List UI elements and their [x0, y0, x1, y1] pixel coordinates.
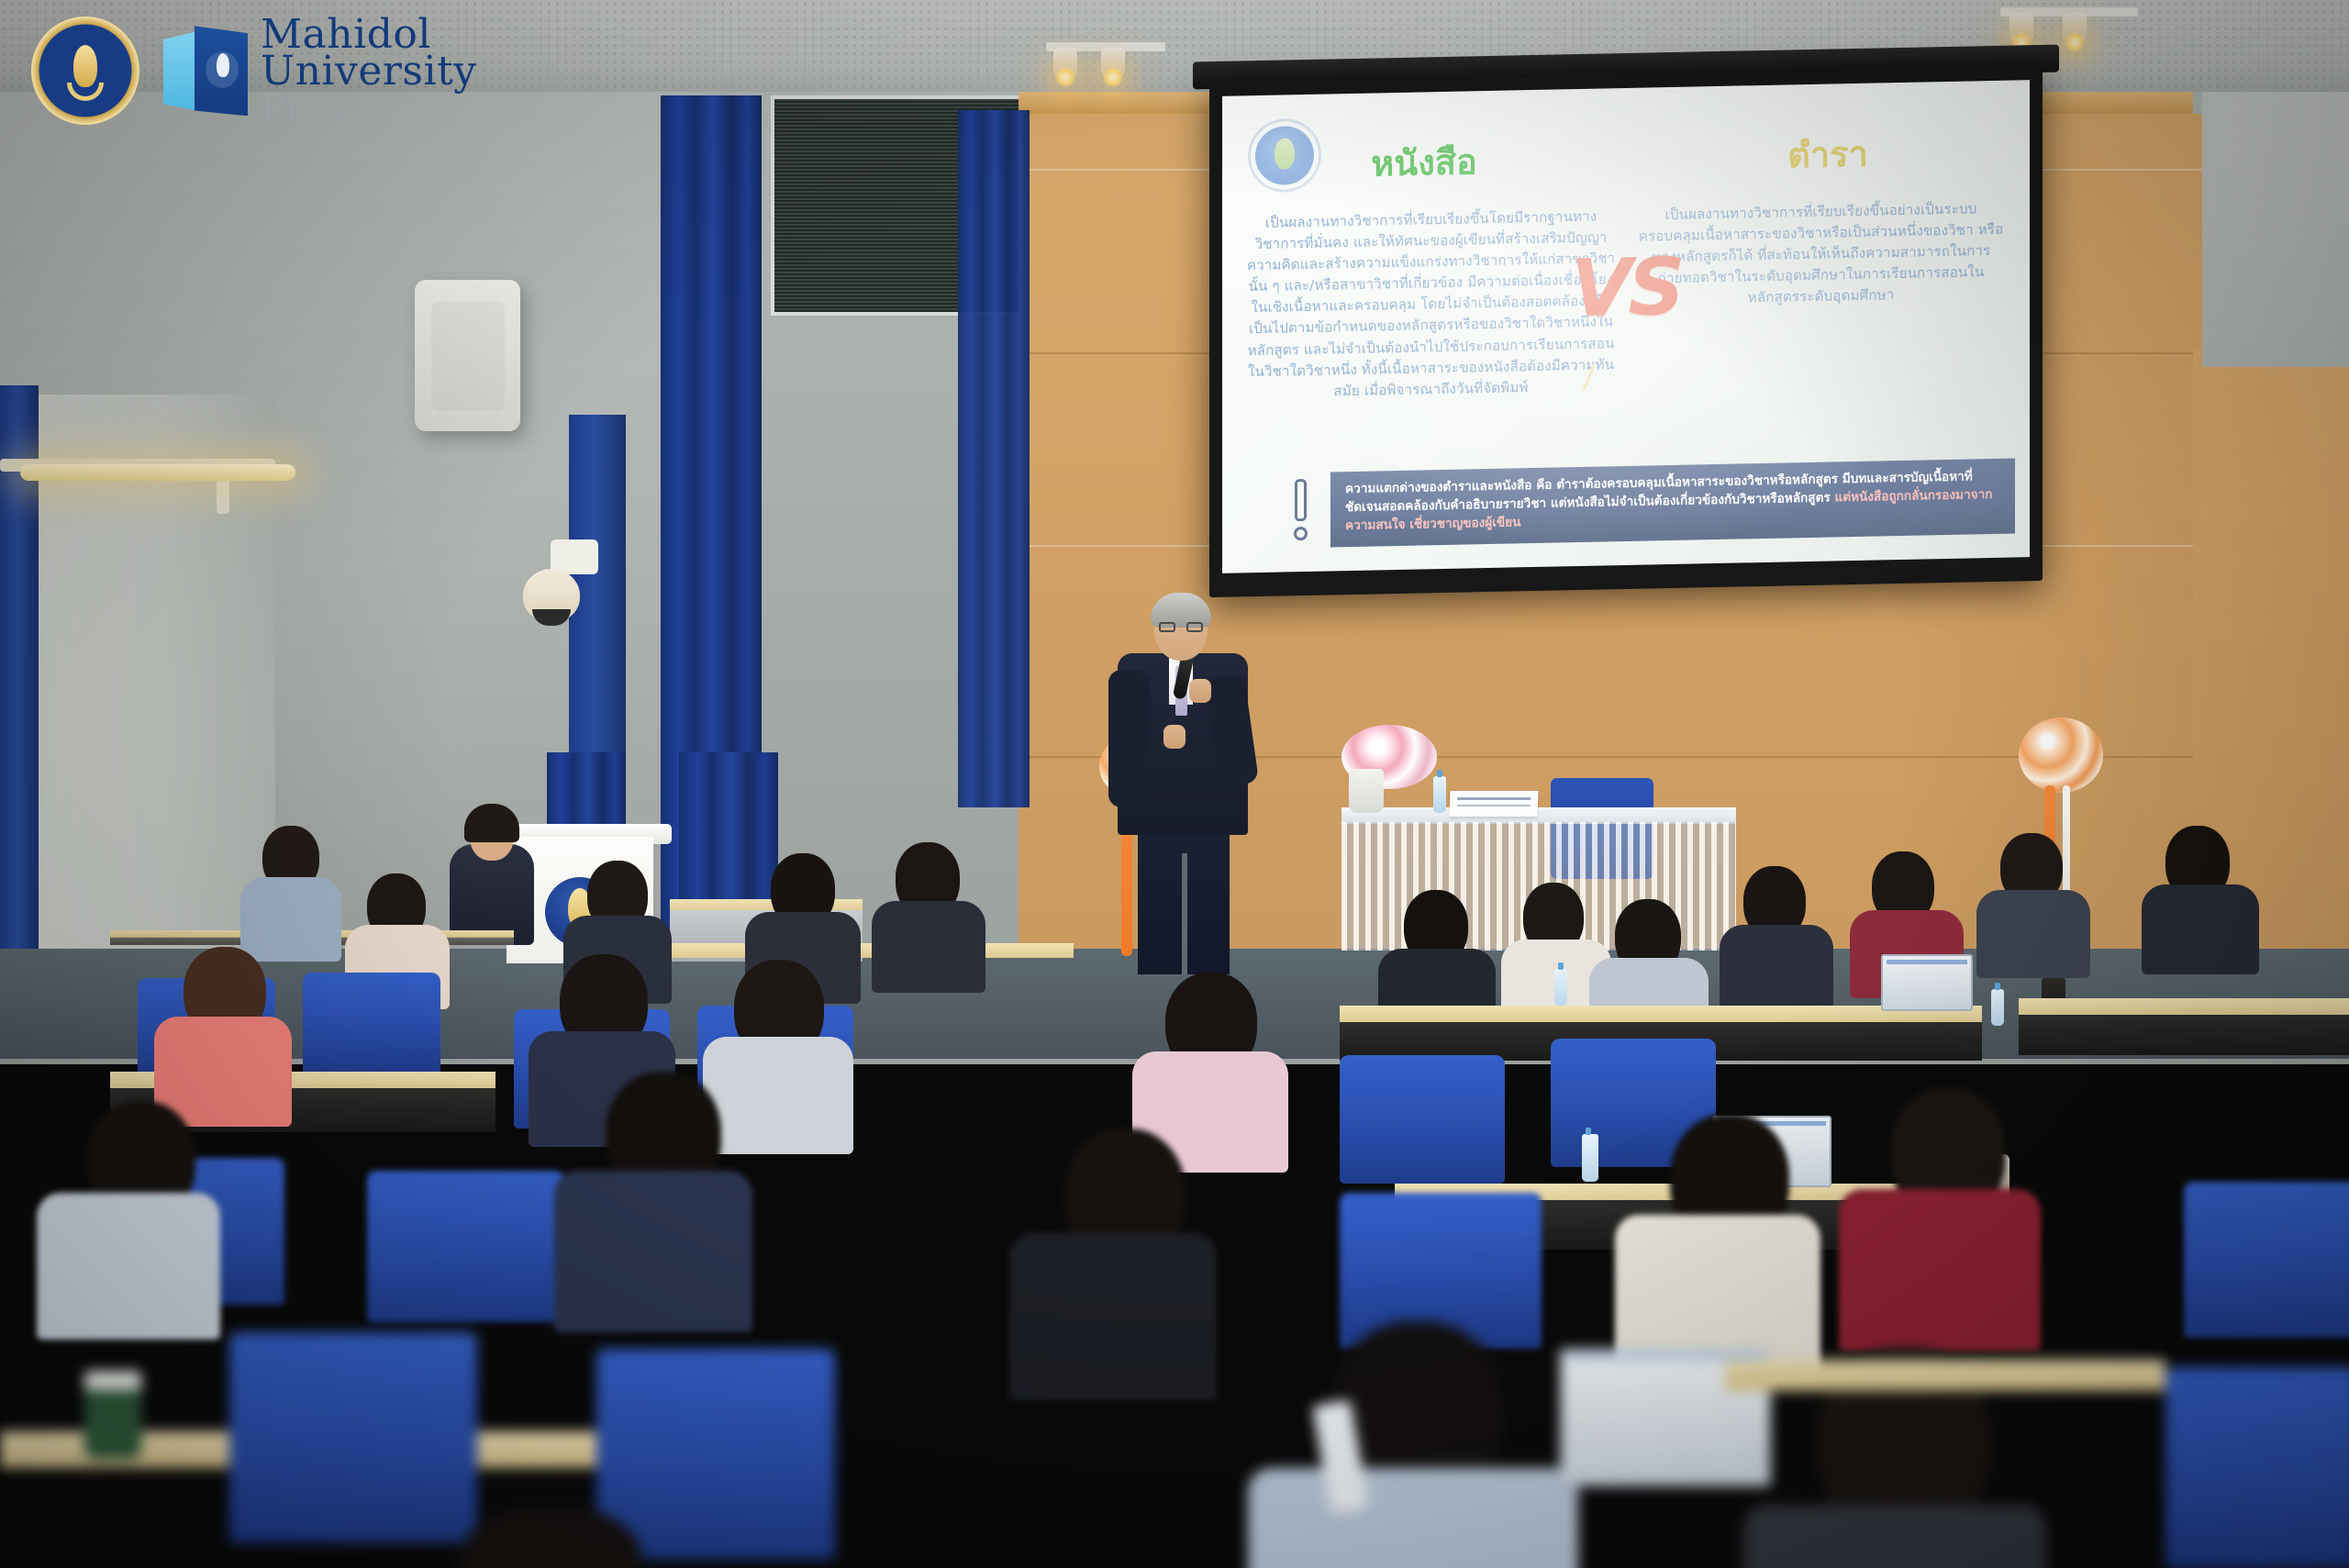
presentation-slide: หนังสือ ตำรา เป็นผลงานทางวิชาการที่เรียบ… [1222, 80, 2030, 573]
spotlight-1 [1053, 48, 1077, 75]
audience-body [37, 1193, 220, 1340]
water-bottle [1554, 969, 1567, 1006]
audience-body [2142, 884, 2259, 974]
mahidol-university-seal-icon [31, 17, 139, 125]
slide-body-left: เป็นผลงานทางวิชาการที่เรียบเรียงขึ้นโดยม… [1239, 206, 1623, 404]
desk-front-right [2019, 1015, 2349, 1055]
audience-body [703, 1037, 853, 1154]
open-book-icon [163, 26, 248, 116]
audience-body [1839, 1189, 2041, 1351]
chair [2184, 1182, 2349, 1338]
audience-body-front [1248, 1468, 1578, 1568]
slide-heading-left: หนังสือ [1222, 130, 1626, 195]
desk-row-back-center [661, 943, 1074, 958]
eyeglasses-icon [1159, 622, 1203, 632]
water-bottle [1582, 1134, 1598, 1182]
chair [596, 1349, 835, 1560]
callout-paragraph: ความแตกต่างของตำราและหนังสือ คือ ตำราต้อ… [1345, 468, 2002, 536]
audience-body [240, 877, 341, 962]
wall-speaker [415, 280, 520, 431]
flower-stand-right-bouquet [2019, 717, 2103, 793]
presenter-leg-gap [1182, 853, 1187, 974]
desk-row-right [2019, 998, 2349, 1017]
chair [1340, 1055, 1505, 1184]
exclamation-icon [1290, 479, 1310, 540]
name-card [1450, 791, 1539, 817]
projection-screen: หนังสือ ตำรา เป็นผลงานทางวิชาการที่เรียบ… [1209, 67, 2043, 597]
water-bottle-head-table [1433, 776, 1446, 813]
presenter-left-hand [1163, 725, 1186, 749]
audience-body [1720, 925, 1833, 1015]
press-logo-text: Mahidol University Press [261, 17, 477, 126]
chair [367, 1171, 564, 1322]
chair [2165, 1367, 2349, 1568]
coffee-cup [84, 1371, 141, 1459]
audience-body [872, 901, 985, 993]
blue-pilaster-far-left [0, 385, 39, 1028]
presenter-right-hand [1189, 679, 1211, 703]
strip-light [20, 464, 295, 481]
flower-vase [1349, 769, 1384, 813]
audience-body [1009, 1233, 1217, 1400]
chair [303, 973, 440, 1075]
slide-heading-right: ตำรา [1626, 122, 2030, 186]
presenter-left-arm [1108, 670, 1149, 807]
water-bottle [1991, 989, 2004, 1026]
right-wall-upper [2202, 92, 2349, 367]
dome-security-camera [523, 569, 580, 622]
audience-body-front [1743, 1505, 2046, 1568]
slide-headings: หนังสือ ตำรา [1222, 122, 2030, 195]
spotlight-4 [2063, 13, 2087, 40]
chair [229, 1332, 477, 1543]
mahidol-university-press-logo: Mahidol University Press [163, 17, 477, 126]
audience-body [554, 1171, 752, 1332]
slide-body-right: เป็นผลงานทางวิชาการที่เรียบเรียงขึ้นอย่า… [1629, 198, 2013, 396]
press-logo-line2: University [261, 53, 477, 90]
blue-curtain-center [958, 110, 1030, 807]
laptop [1881, 954, 1973, 1011]
projection-screen-surface: หนังสือ ตำรา เป็นผลงานทางวิชาการที่เรียบ… [1222, 80, 2030, 573]
spotlight-3 [2009, 13, 2033, 40]
lecture-hall-photo: หนังสือ ตำรา เป็นผลงานทางวิชาการที่เรียบ… [0, 0, 2349, 1568]
versus-label: VS [1571, 241, 1682, 335]
spotlight-2 [1101, 48, 1125, 75]
audience-body [154, 1017, 292, 1127]
press-logo-line3: Press [261, 92, 477, 126]
branding-logos: Mahidol University Press [31, 17, 477, 126]
audience-body [1976, 890, 2090, 978]
slide-callout-box: ความแตกต่างของตำราและหนังสือ คือ ตำราต้อ… [1330, 459, 2015, 548]
desk-front-row-right [1725, 1360, 2165, 1391]
